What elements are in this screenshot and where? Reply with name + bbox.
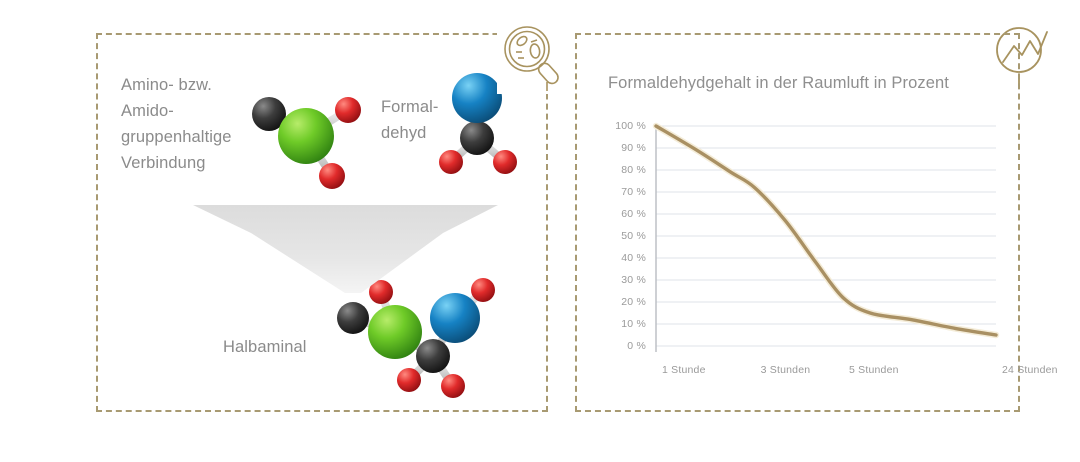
x-axis-tick-label: 24 Stunden	[1002, 364, 1058, 376]
chart-plot-area	[600, 118, 1000, 373]
y-axis-tick-label: 40 %	[600, 252, 646, 264]
y-axis-tick-label: 90 %	[600, 142, 646, 154]
chart-line-series	[656, 126, 996, 335]
infographic-root: Amino- bzw. Amido- gruppenhaltige Verbin…	[0, 0, 1080, 462]
y-axis-tick-label: 70 %	[600, 186, 646, 198]
y-axis-tick-label: 80 %	[600, 164, 646, 176]
x-axis-tick-label: 5 Stunden	[849, 364, 899, 376]
x-axis-tick-label: 1 Stunde	[662, 364, 706, 376]
y-axis-tick-label: 0 %	[600, 340, 646, 352]
reaction-arrow-icon	[193, 205, 498, 295]
y-axis-tick-label: 100 %	[600, 120, 646, 132]
y-axis-tick-label: 10 %	[600, 318, 646, 330]
chart-title: Formaldehydgehalt in der Raumluft in Pro…	[608, 74, 949, 93]
formaldehyd-decay-chart: 100 %90 %80 %70 %60 %50 %40 %30 %20 %10 …	[600, 118, 1000, 373]
amino-compound-molecule	[236, 82, 376, 194]
y-axis-tick-label: 60 %	[600, 208, 646, 220]
magnifier-molecule-icon	[497, 20, 571, 94]
y-axis-tick-label: 50 %	[600, 230, 646, 242]
y-axis-tick-label: 30 %	[600, 274, 646, 286]
halbaminal-label: Halbaminal	[223, 338, 307, 357]
x-axis-tick-label: 3 Stunden	[761, 364, 811, 376]
y-axis-tick-label: 20 %	[600, 296, 646, 308]
